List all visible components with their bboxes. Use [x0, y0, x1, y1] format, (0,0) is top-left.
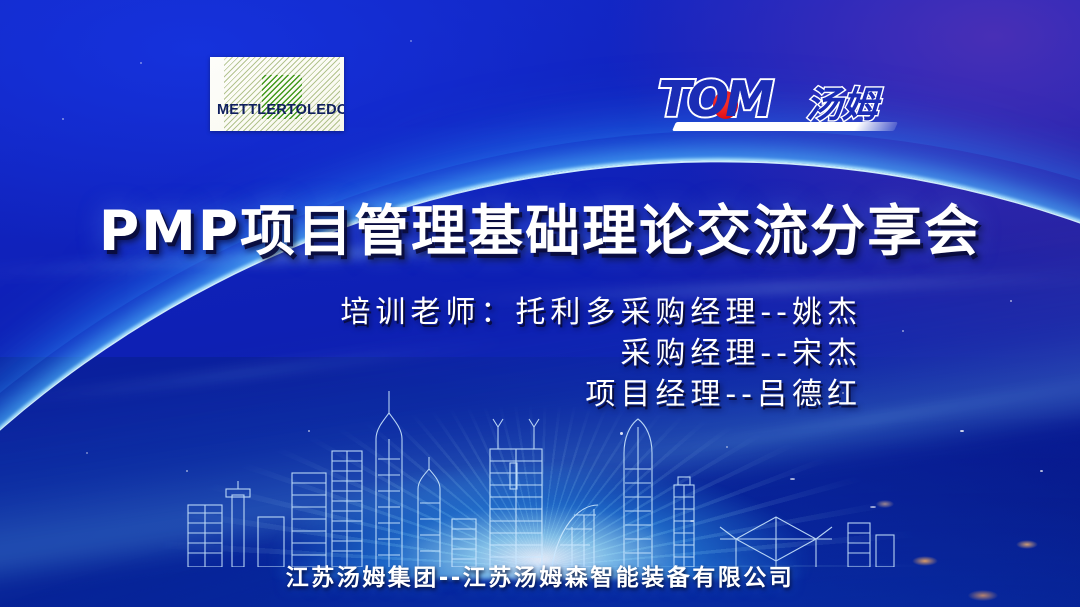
presenter-list: 培训老师：托利多采购经理--姚杰 采购经理--宋杰 项目经理--吕德红: [340, 292, 862, 415]
star-speck: [870, 506, 876, 508]
presenter-line-2: 采购经理--宋杰: [340, 333, 862, 374]
star-speck: [86, 452, 88, 454]
star-speck: [620, 432, 623, 435]
star-speck: [410, 40, 412, 42]
presentation-title-slide: METTLER TOLEDO TOM TOM 汤姆 汤姆 PMP项目管理基础理论…: [0, 0, 1080, 607]
star-speck: [62, 118, 64, 120]
presenter-line-3: 项目经理--吕德红: [340, 374, 862, 415]
star-speck: [308, 430, 310, 432]
mettler-toledo-logo: METTLER TOLEDO: [210, 57, 344, 131]
star-speck: [1010, 300, 1012, 302]
tom-latin-fill: TOM: [658, 72, 770, 128]
star-speck: [790, 478, 795, 480]
toledo-wordmark: TOLEDO: [287, 102, 344, 118]
tom-logo: TOM TOM 汤姆 汤姆: [658, 72, 898, 130]
company-footer: 江苏汤姆集团--江苏汤姆森智能装备有限公司: [0, 558, 1080, 592]
page-title: PMP项目管理基础理论交流分享会: [0, 186, 1080, 266]
earth-city-light: [876, 500, 894, 508]
star-speck: [140, 62, 142, 64]
star-speck: [902, 330, 904, 332]
star-speck: [690, 520, 694, 522]
star-speck: [960, 430, 964, 432]
earth-city-light: [1016, 540, 1038, 549]
star-speck: [726, 446, 728, 448]
tom-chinese-fill: 汤姆: [806, 76, 878, 128]
star-speck: [1040, 470, 1043, 472]
presenter-line-1: 培训老师：托利多采购经理--姚杰: [340, 292, 862, 333]
mettler-wordmark: METTLER: [217, 102, 287, 118]
star-speck: [186, 470, 188, 472]
